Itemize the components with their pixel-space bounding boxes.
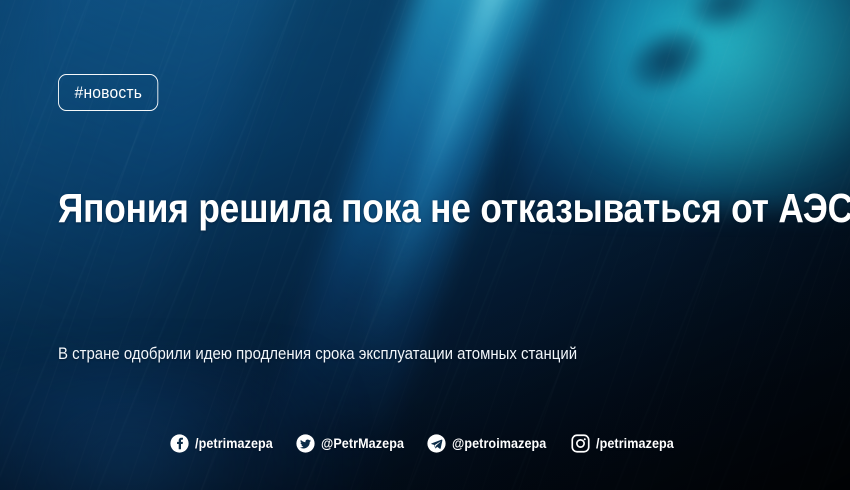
subtitle: В стране одобрили идею продления срока э… xyxy=(58,343,727,364)
social-handle: @PetrMazepa xyxy=(321,436,404,451)
telegram-icon xyxy=(427,434,446,453)
social-handle: /petrimazepa xyxy=(195,436,273,451)
facebook-icon xyxy=(170,434,189,453)
social-handle: @petroimazepa xyxy=(452,436,546,451)
social-handle: /petrimazepa xyxy=(596,436,674,451)
page-title: Япония решила пока не отказываться от АЭ… xyxy=(58,186,712,230)
social-link-instagram[interactable]: /petrimazepa xyxy=(571,434,680,453)
instagram-icon xyxy=(571,434,590,453)
news-card: #новость Япония решила пока не отказыват… xyxy=(0,0,850,490)
card-content: #новость Япония решила пока не отказыват… xyxy=(0,0,850,490)
social-link-facebook[interactable]: /petrimazepa xyxy=(170,434,279,453)
social-link-twitter[interactable]: @PetrMazepa xyxy=(296,434,410,453)
twitter-icon xyxy=(296,434,315,453)
social-link-telegram[interactable]: @petroimazepa xyxy=(427,434,554,453)
social-links: /petrimazepa @PetrMazepa xyxy=(0,434,850,453)
tag-badge[interactable]: #новость xyxy=(58,74,159,111)
